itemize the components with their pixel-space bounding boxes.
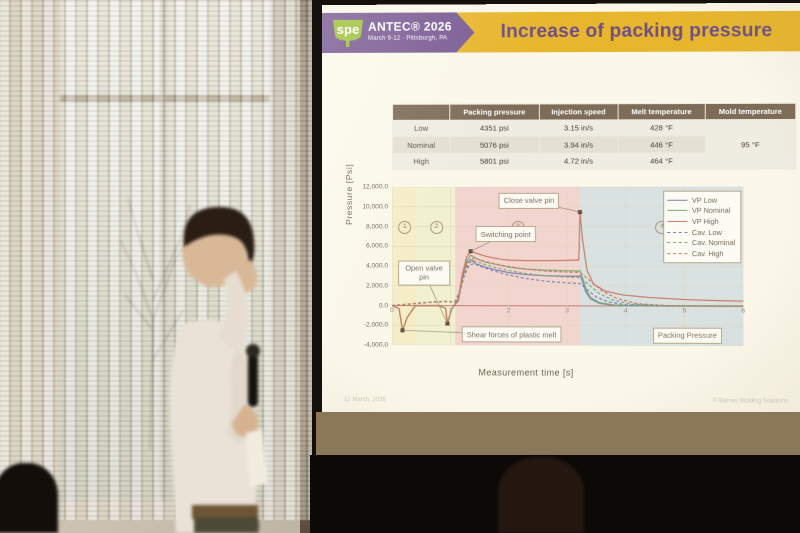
chart-plot-area: 123412,000.010,000.08,000.06,000.04,000.…: [392, 187, 743, 346]
cell-injection-speed-low: 3.15 in/s: [539, 120, 618, 137]
legend-swatch-icon: [668, 242, 688, 243]
legend-item: Cav. Low: [668, 227, 736, 238]
table-col-packing-pressure: Packing pressure: [450, 104, 539, 120]
legend-item: Cav. High: [668, 248, 736, 259]
y-axis-tick: 8,000.0: [366, 223, 388, 230]
svg-text:spe: spe: [337, 22, 359, 37]
cell-melt-temperature-nominal: 446 °F: [618, 136, 705, 153]
cell-melt-temperature-high: 464 °F: [618, 153, 705, 170]
table-col-injection-speed: Injection speed: [539, 104, 618, 120]
table-col-mold-temperature: Mold temperature: [705, 103, 796, 119]
audience-head-right: [498, 457, 584, 533]
slide-footer-copyright: © Barnes Molding Solutions: [713, 398, 788, 404]
cell-melt-temperature-low: 428 °F: [618, 120, 705, 137]
parameters-table: Packing pressure Injection speed Melt te…: [392, 103, 796, 170]
legend-label: Cav. Low: [692, 228, 722, 237]
chart-callout: Shear forces of plastic melt: [462, 326, 562, 342]
y-axis-tick: -4,000.0: [364, 342, 388, 349]
projection-screen: spe ANTEC® 2026 March 9-12 · Pittsburgh,…: [322, 3, 800, 462]
audience-head-left: [0, 463, 58, 533]
legend-swatch-icon: [668, 232, 688, 233]
antec-year-label: ANTEC® 2026: [368, 20, 452, 32]
chart-y-axis-label: Pressure [Psi]: [344, 164, 354, 225]
y-axis-tick: 6,000.0: [366, 243, 388, 250]
row-label-low: Low: [393, 120, 450, 137]
spe-logo-icon: spe: [330, 18, 366, 48]
y-axis-tick: 4,000.0: [366, 263, 388, 270]
legend-label: Cav. Nominal: [692, 238, 735, 247]
legend-swatch-icon: [668, 253, 688, 254]
slide-footer-date: 12 March, 2026: [344, 397, 386, 403]
legend-swatch-icon: [668, 200, 688, 201]
chart-callout: Switching point: [476, 226, 536, 242]
legend-item: VP High: [668, 216, 736, 227]
slide-title: Increase of packing pressure: [501, 20, 773, 43]
legend-item: Cav. Nominal: [668, 237, 736, 248]
cell-injection-speed-high: 4.72 in/s: [539, 153, 618, 170]
legend-swatch-icon: [668, 221, 688, 222]
y-axis-tick: -2,000.0: [364, 322, 388, 329]
legend-label: Cav. High: [692, 249, 723, 258]
legend-item: VP Nominal: [668, 205, 736, 216]
y-axis-tick: 2,000.0: [366, 282, 388, 289]
chart-callout: Packing Pressure: [653, 327, 722, 343]
chart-legend: VP LowVP NominalVP HighCav. LowCav. Nomi…: [664, 191, 742, 263]
cell-mold-temperature: 95 °F: [705, 119, 796, 169]
table-row: Low 4351 psi 3.15 in/s 428 °F 95 °F: [393, 119, 796, 136]
table-col-melt-temperature: Melt temperature: [618, 104, 705, 120]
antec-date-location-label: March 9-12 · Pittsburgh, PA: [368, 34, 452, 42]
pressure-chart: Pressure [Psi] Measurement time [s] 1234…: [346, 181, 782, 385]
y-axis-tick: 12,000.0: [362, 183, 388, 190]
chart-callout: Close valve pin: [499, 193, 560, 209]
cell-packing-pressure-nominal: 5076 psi: [450, 136, 539, 153]
legend-item: VP Low: [668, 195, 736, 206]
row-label-nominal: Nominal: [393, 137, 450, 154]
slide-surface: spe ANTEC® 2026 March 9-12 · Pittsburgh,…: [322, 3, 800, 422]
presentation-photo: spe ANTEC® 2026 March 9-12 · Pittsburgh,…: [0, 0, 800, 533]
legend-label: VP Nominal: [692, 206, 730, 215]
legend-label: VP Low: [692, 196, 717, 205]
cell-packing-pressure-high: 5801 psi: [450, 153, 539, 170]
row-label-high: High: [393, 153, 450, 169]
y-axis-tick: 0.0: [379, 302, 388, 309]
chart-x-axis-label: Measurement time [s]: [478, 367, 573, 377]
legend-swatch-icon: [668, 210, 688, 211]
cell-packing-pressure-low: 4351 psi: [450, 120, 539, 137]
y-axis-tick: 10,000.0: [362, 203, 388, 210]
chart-callout: Open valve pin: [398, 260, 450, 285]
slide-header: spe ANTEC® 2026 March 9-12 · Pittsburgh,…: [322, 5, 800, 59]
marker-open-valve-pin: [445, 321, 449, 325]
spe-wordmark: ANTEC® 2026 March 9-12 · Pittsburgh, PA: [368, 20, 452, 42]
table-col-blank: [393, 104, 450, 120]
header-arrow-shape: [456, 12, 474, 52]
presenter: [140, 205, 285, 533]
cell-injection-speed-nominal: 3.94 in/s: [539, 136, 618, 153]
table-header-row: Packing pressure Injection speed Melt te…: [393, 103, 796, 120]
legend-label: VP High: [692, 217, 719, 226]
